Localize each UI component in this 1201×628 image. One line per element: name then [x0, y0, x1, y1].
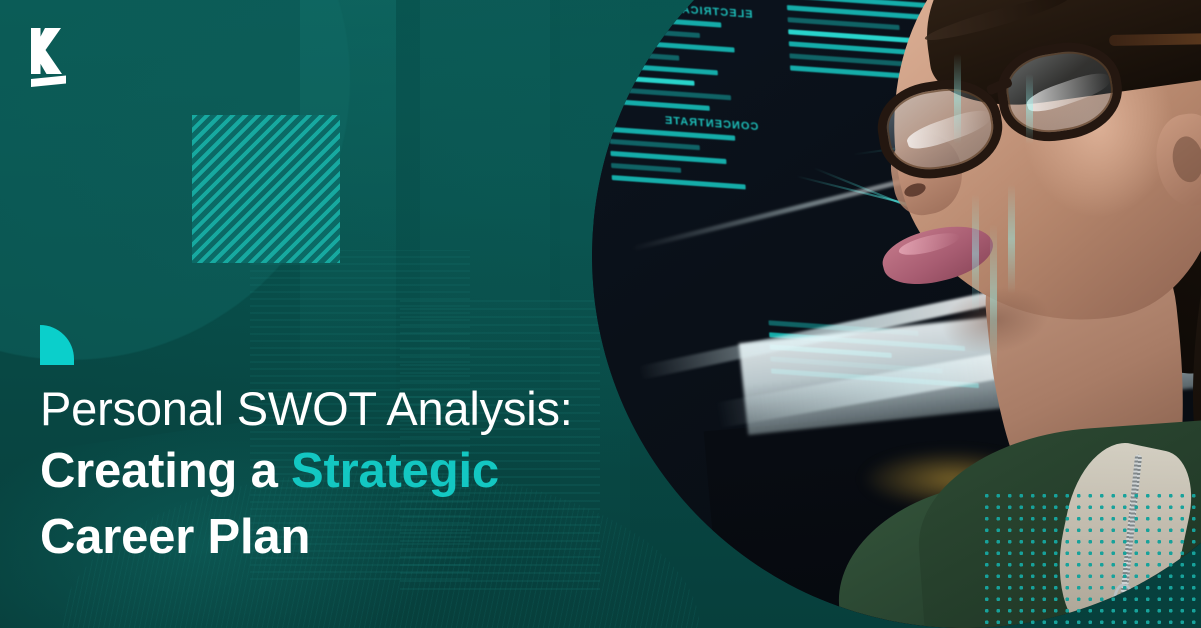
- headline-line-1: Personal SWOT Analysis:: [40, 380, 720, 438]
- headline-line-2-prefix: Creating a: [40, 444, 291, 498]
- headline-line-2: Creating a Strategic: [40, 438, 720, 504]
- banner: ELECTRICAL CONCENTRATE: [0, 0, 1201, 628]
- headline-block: Personal SWOT Analysis: Creating a Strat…: [40, 380, 720, 570]
- brand-logo[interactable]: [28, 26, 88, 88]
- headline-line-2-accent: Strategic: [291, 444, 499, 498]
- hologram-overlay: [942, 34, 1132, 454]
- striped-square-decoration: [192, 115, 340, 263]
- dot-grid-decoration: [979, 488, 1201, 628]
- headline-line-3: Career Plan: [40, 504, 720, 570]
